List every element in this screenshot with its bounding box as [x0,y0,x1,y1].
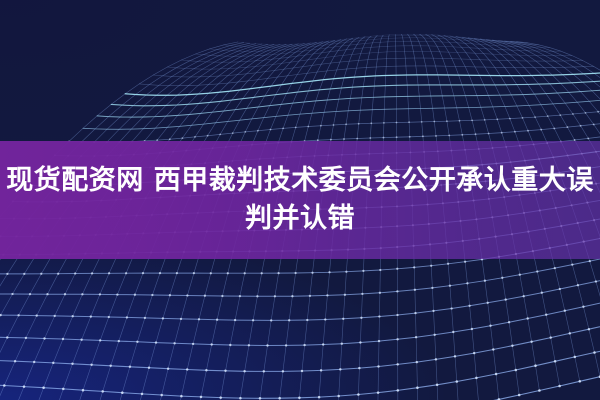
headline-line-1: 现货配资网 西甲裁判技术委员会公开承认重大误 [6,162,593,200]
headline-line-2: 判并认错 [245,200,355,238]
headline-text: 现货配资网 西甲裁判技术委员会公开承认重大误 判并认错 [0,141,600,259]
banner-image: 现货配资网 西甲裁判技术委员会公开承认重大误 判并认错 [0,0,600,400]
